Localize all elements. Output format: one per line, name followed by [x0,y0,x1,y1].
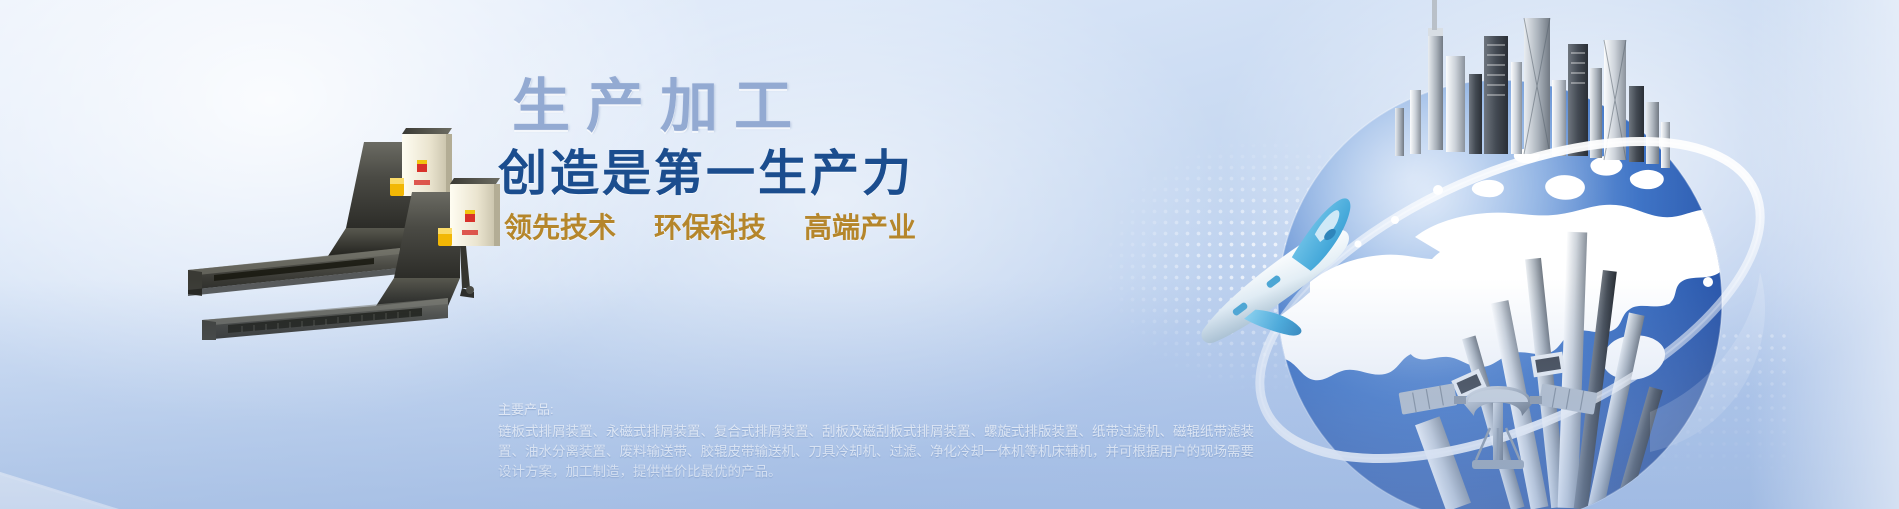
globe-illustration [1180,0,1880,509]
banner-copy: 生产加工 创造是第一生产力 领先技术 环保科技 高端产业 [498,78,968,243]
headline-primary: 生产加工 [512,78,968,136]
product-list-label: 主要产品: [498,400,1258,420]
chip-conveyor-machines [150,120,530,340]
product-description-block: 主要产品: 链板式排屑装置、永磁式排屑装置、复合式排屑装置、刮板及磁刮板式排屑装… [498,400,1258,482]
tagline-item-3: 高端产业 [804,215,916,243]
headline-secondary: 创造是第一生产力 [498,150,968,199]
tagline-row: 领先技术 环保科技 高端产业 [504,215,968,243]
marketing-banner: 生产加工 创造是第一生产力 领先技术 环保科技 高端产业 主要产品: 链板式排屑… [0,0,1899,509]
product-list-body: 链板式排屑装置、永磁式排屑装置、复合式排屑装置、刮板及磁刮板式排屑装置、螺旋式排… [498,422,1258,482]
tagline-item-1: 领先技术 [504,215,616,243]
tagline-item-2: 环保科技 [654,215,766,243]
